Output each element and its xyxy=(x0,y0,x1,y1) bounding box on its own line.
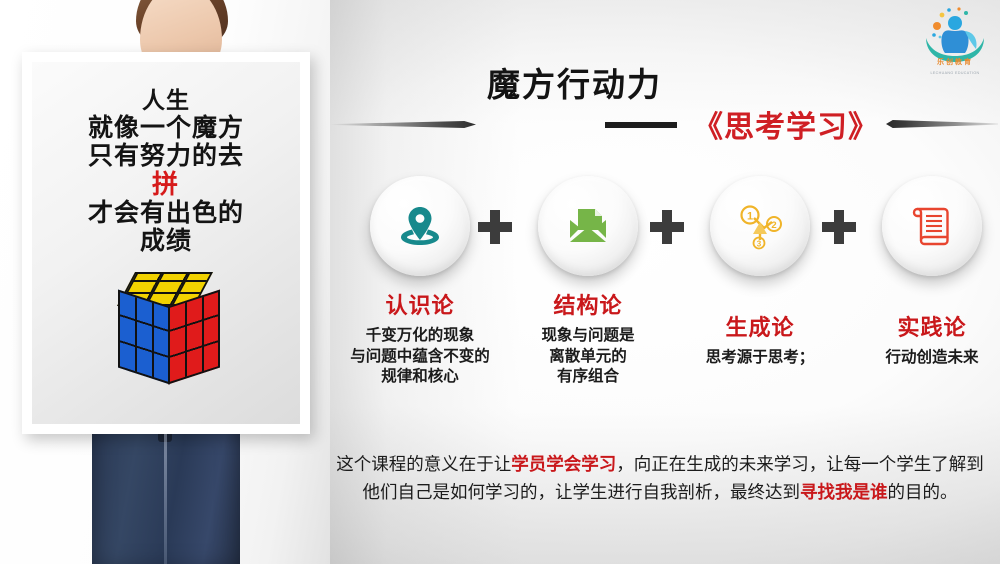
person-holding-poster-photo: 人生 就像一个魔方 只有努力的去 拼 才会有出色的 成绩 xyxy=(0,0,330,564)
pillar-description: 现象与问题是 离散单元的 有序组合 xyxy=(514,326,662,388)
poster-inner: 人生 就像一个魔方 只有努力的去 拼 才会有出色的 成绩 xyxy=(32,62,300,424)
svg-text:1: 1 xyxy=(747,211,753,223)
poster-frame: 人生 就像一个魔方 只有努力的去 拼 才会有出色的 成绩 xyxy=(22,52,310,434)
pillar-epistemology[interactable]: 认识论 千变万化的现象 与问题中蕴含不变的 规律和核心 xyxy=(346,176,494,388)
pillar-icon-circle xyxy=(370,176,470,276)
footer-highlight-2: 寻找我是谁 xyxy=(800,482,888,502)
slide-canvas: 人生 就像一个魔方 只有努力的去 拼 才会有出色的 成绩 xyxy=(0,0,1000,564)
jeans-seam xyxy=(164,424,167,564)
page-subtitle: 《思考学习》 xyxy=(693,102,879,146)
plus-separator-1 xyxy=(478,210,512,244)
page-title: 魔方行动力 xyxy=(487,58,662,106)
brand-logo: 乐创教育 LECHUANG EDUCATION xyxy=(918,4,992,76)
envelope-document-icon xyxy=(564,202,612,250)
node-network-icon: 1 2 3 xyxy=(734,200,786,252)
pillar-title: 生成论 xyxy=(686,317,834,339)
plus-separator-3 xyxy=(822,210,856,244)
poster-line-5: 才会有出色的 xyxy=(32,199,300,227)
pillar-description: 思考源于思考； xyxy=(686,348,834,369)
poster-line-1: 人生 xyxy=(32,88,300,114)
location-pin-icon xyxy=(395,201,445,251)
pillars-row: 认识论 千变万化的现象 与问题中蕴含不变的 规律和核心 结构论 现象与问题是 离… xyxy=(330,176,1000,406)
rubiks-cube-icon xyxy=(116,272,224,384)
pillar-title: 认识论 xyxy=(346,295,494,317)
cube-right-face xyxy=(168,290,220,385)
pillar-title: 实践论 xyxy=(858,317,1000,339)
plus-separator-2 xyxy=(650,210,684,244)
logo-wordmark: 乐创教育 xyxy=(918,57,992,67)
pillar-icon-circle xyxy=(538,176,638,276)
pillar-generativism[interactable]: 1 2 3 生成论 思考源于思考； xyxy=(686,176,834,369)
pillar-title: 结构论 xyxy=(514,295,662,317)
title-underline-bar xyxy=(605,122,677,128)
logo-tagline: LECHUANG EDUCATION xyxy=(918,71,992,75)
poster-text-block: 人生 就像一个魔方 只有努力的去 拼 才会有出色的 成绩 xyxy=(32,88,300,255)
pillar-description: 行动创造未来 xyxy=(858,348,1000,369)
poster-line-2: 就像一个魔方 xyxy=(32,114,300,142)
footer-text-part-3: 的目的。 xyxy=(888,482,958,502)
poster-line-3: 只有努力的去 xyxy=(32,142,300,170)
poster-line-4-highlight: 拼 xyxy=(32,170,300,199)
footer-highlight-1: 学员学会学习 xyxy=(511,454,616,474)
pillar-icon-circle: 1 2 3 xyxy=(710,176,810,276)
svg-text:3: 3 xyxy=(757,240,762,249)
cube-left-face xyxy=(118,290,170,385)
pillar-icon-circle xyxy=(882,176,982,276)
poster-line-6: 成绩 xyxy=(32,227,300,255)
pillar-description: 千变万化的现象 与问题中蕴含不变的 规律和核心 xyxy=(346,326,494,388)
footer-text-part-1: 这个课程的意义在于让 xyxy=(336,454,511,474)
footer-paragraph: 这个课程的意义在于让学员学会学习，向正在生成的未来学习，让每一个学生了解到他们自… xyxy=(330,450,990,507)
pillar-practice[interactable]: 实践论 行动创造未来 xyxy=(858,176,1000,369)
pillar-structuralism[interactable]: 结构论 现象与问题是 离散单元的 有序组合 xyxy=(514,176,662,388)
scroll-document-icon xyxy=(907,201,957,251)
svg-text:2: 2 xyxy=(771,220,776,231)
